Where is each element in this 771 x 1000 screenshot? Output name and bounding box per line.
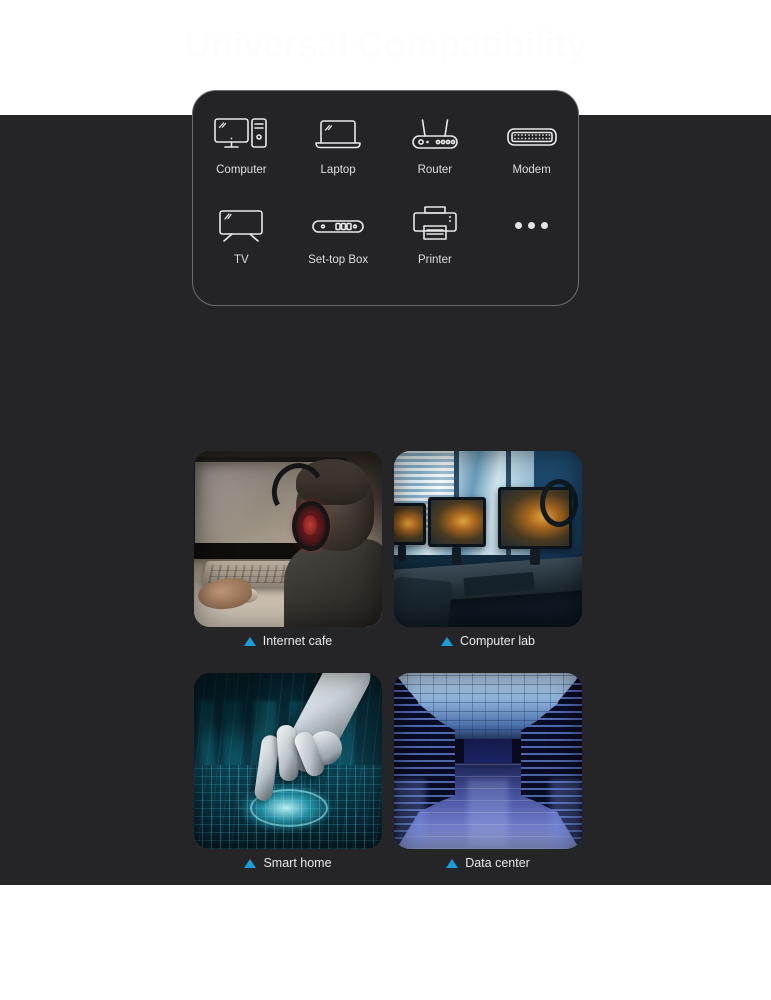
scenario-caption-text: Computer lab [460, 634, 535, 649]
printer-icon [410, 199, 460, 251]
device-item-tv[interactable]: TV [193, 199, 290, 289]
scenario-smart-home[interactable]: Smart home [194, 673, 382, 871]
device-item-modem[interactable]: Modem [483, 109, 580, 199]
laptop-icon [314, 109, 362, 161]
desktop-computer-icon [214, 109, 268, 161]
device-item-more[interactable] [483, 199, 580, 289]
scenario-caption-text: Smart home [263, 856, 331, 871]
scenario-internet-cafe[interactable]: Internet cafe [194, 451, 382, 649]
router-icon [409, 109, 461, 161]
triangle-up-icon [244, 637, 256, 646]
product-feature-page: Universal Compatibility [0, 0, 771, 1000]
modem-icon [505, 109, 559, 161]
device-item-computer[interactable]: Computer [193, 109, 290, 199]
device-label: Router [418, 163, 453, 177]
scenario-photo-internet-cafe [194, 451, 382, 627]
device-item-router[interactable]: Router [387, 109, 484, 199]
scenario-computer-lab[interactable]: Computer lab [394, 451, 582, 649]
device-item-laptop[interactable]: Laptop [290, 109, 387, 199]
photo-vignette [194, 673, 382, 849]
set-top-box-icon [310, 199, 366, 251]
scenario-caption-text: Internet cafe [263, 634, 333, 649]
triangle-up-icon [446, 859, 458, 868]
scenario-caption: Smart home [194, 856, 382, 871]
device-label: Computer [216, 163, 267, 177]
device-label: Printer [418, 253, 452, 267]
device-item-printer[interactable]: Printer [387, 199, 484, 289]
scenario-photo-data-center [394, 673, 582, 849]
page-title: Universal Compatibility [0, 23, 771, 67]
device-label: Modem [512, 163, 550, 177]
device-icon-grid: Computer Laptop [193, 109, 580, 289]
device-item-set-top-box[interactable]: Set-top Box [290, 199, 387, 289]
compatibility-card: Computer Laptop [192, 90, 579, 306]
ellipsis-icon [515, 199, 548, 251]
photo-vignette [194, 451, 382, 627]
triangle-up-icon [244, 859, 256, 868]
device-label: Laptop [321, 163, 356, 177]
scenario-caption: Computer lab [394, 634, 582, 649]
device-label: Set-top Box [308, 253, 368, 267]
scenario-caption: Internet cafe [194, 634, 382, 649]
tv-icon [216, 199, 266, 251]
device-label: TV [234, 253, 249, 267]
scenario-caption: Data center [394, 856, 582, 871]
scenario-photo-computer-lab [394, 451, 582, 627]
scenario-caption-text: Data center [465, 856, 530, 871]
photo-vignette [394, 451, 582, 627]
scenario-data-center[interactable]: Data center [394, 673, 582, 871]
scenario-photo-smart-home [194, 673, 382, 849]
triangle-up-icon [441, 637, 453, 646]
photo-vignette [394, 673, 582, 849]
